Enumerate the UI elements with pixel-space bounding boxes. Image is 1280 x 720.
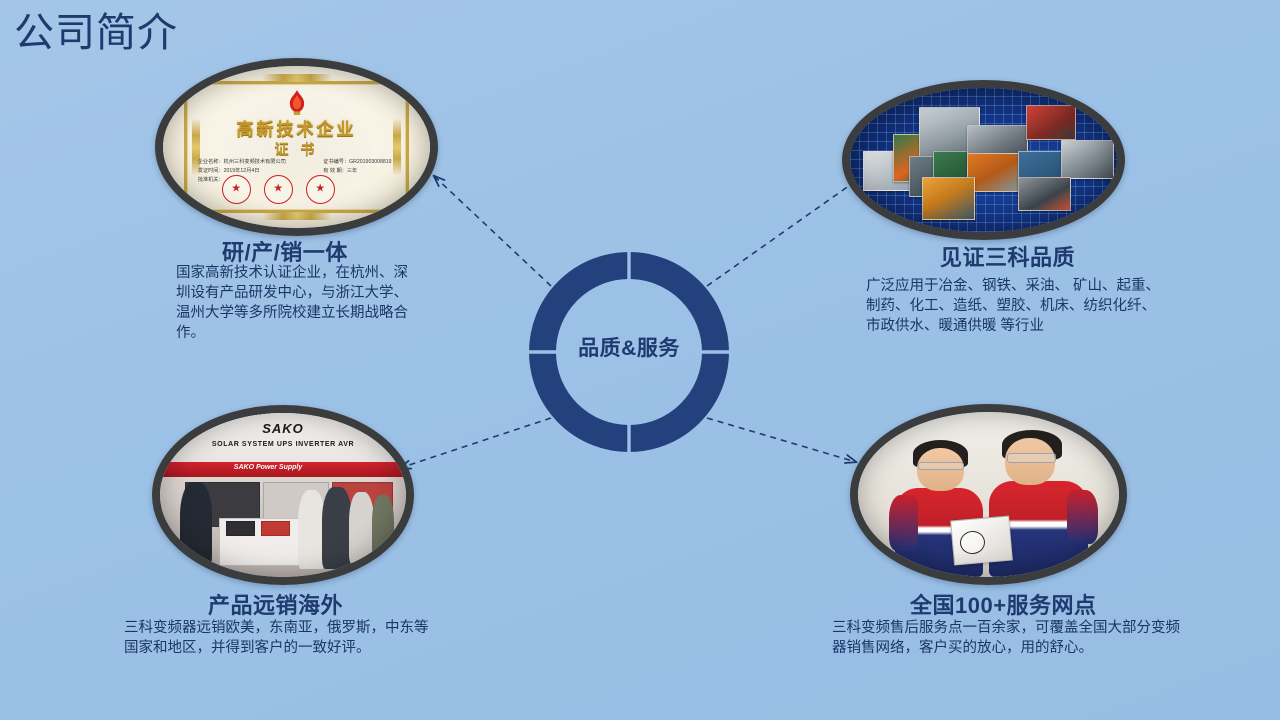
technician-right-sleeve — [1067, 490, 1098, 544]
booth-tagline: SOLAR SYSTEM UPS INVERTER AVR — [212, 441, 354, 448]
center-label: 品质&服务 — [525, 332, 733, 362]
trade-show-image: SAKO SOLAR SYSTEM UPS INVERTER AVR SAKO … — [152, 405, 414, 585]
technician-right-glasses — [1007, 453, 1056, 462]
certificate-issuer-field: 批准机关： — [198, 176, 224, 183]
photo-collage — [850, 88, 1117, 232]
official-seal-icon — [306, 175, 335, 204]
ring-segment-3 — [543, 352, 630, 439]
industry-collage-image — [842, 80, 1125, 240]
official-seal-icon — [264, 175, 293, 204]
technicians-image — [850, 404, 1127, 585]
heading-bottom-left: 产品远销海外 — [208, 588, 343, 620]
visitor-silhouette — [180, 482, 212, 567]
booth-sub-logo: SAKO Power Supply — [234, 464, 302, 471]
certificate-company-field: 企业名称：杭州三科变频技术有限公司 — [198, 158, 286, 165]
booth-logo: SAKO — [262, 421, 304, 436]
collage-photo — [922, 177, 975, 219]
body-top-left: 国家高新技术认证企业，在杭州、深圳设有产品研发中心，与浙江大学、温州大学等多所院… — [176, 263, 420, 343]
heading-bottom-right: 全国100+服务网点 — [910, 588, 1097, 620]
certificate-title: 高新技术企业 — [163, 115, 430, 140]
page-title: 公司简介 — [14, 9, 178, 57]
visitor-silhouette — [322, 487, 352, 569]
certificate-date-field: 发证时间：2019年12月4日 — [198, 167, 260, 174]
slide-canvas: 公司简介 — [0, 0, 1280, 720]
visitor-silhouette — [349, 492, 374, 564]
certificate-image: 高新技术企业 证 书 企业名称：杭州三科变频技术有限公司 证书编号：GR2019… — [155, 58, 438, 236]
booth-product-unit — [226, 521, 255, 536]
technician-left-glasses — [918, 462, 964, 471]
ring-segment-2 — [629, 352, 716, 439]
certificate-subtitle: 证 书 — [163, 139, 430, 159]
collage-photo — [1061, 140, 1114, 179]
body-bottom-left: 三科变频器远销欧美，东南亚，俄罗斯，中东等国家和地区，并得到客户的一致好评。 — [124, 618, 442, 658]
body-top-right: 广泛应用于冶金、钢铁、采油、 矿山、起重、制药、化工、造纸、塑胶、机床、纺织化纤… — [866, 276, 1162, 336]
visitor-silhouette — [298, 490, 325, 569]
certificate-seals — [222, 175, 335, 204]
certificate-number-field: 证书编号：GR201903008819 — [323, 158, 391, 165]
certificate-ornament-top — [262, 74, 332, 82]
booth-product-unit — [261, 521, 290, 536]
heading-top-right: 见证三科品质 — [940, 240, 1075, 272]
collage-photo — [1026, 105, 1076, 140]
body-bottom-right: 三科变频售后服务点一百余家，可覆盖全国大部分变频器销售网络，客户买的放心，用的舒… — [832, 618, 1180, 658]
certificate-ornament-bottom — [262, 212, 332, 220]
visitor-silhouette — [372, 495, 394, 561]
official-seal-icon — [222, 175, 251, 204]
technician-left-sleeve — [889, 495, 918, 551]
certificate-validity-field: 有 效 期：三年 — [323, 167, 357, 174]
collage-photo — [967, 153, 1022, 192]
collage-photo — [1018, 177, 1071, 211]
